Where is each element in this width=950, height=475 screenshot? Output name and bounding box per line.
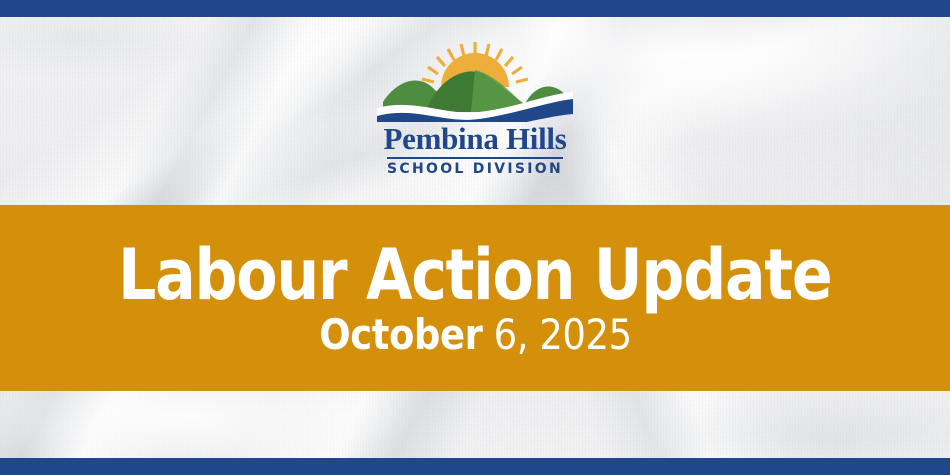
labour-action-update-banner: Pembina Hills SCHOOL DIVISION Labour Act… [0, 0, 950, 475]
date-day-year: 6, 2025 [482, 310, 631, 359]
date-month: October [319, 310, 482, 359]
logo-mark-graphic [375, 40, 575, 122]
logo-subtext: SCHOOL DIVISION [375, 162, 575, 176]
logo-wordmark: Pembina Hills [375, 123, 575, 154]
page-subtitle-date: October 6, 2025 [319, 314, 631, 356]
navy-rule-top [0, 0, 950, 17]
gold-headline-band: Labour Action Update October 6, 2025 [0, 205, 950, 391]
logo-divider-rule [387, 157, 563, 159]
page-title: Labour Action Update [118, 240, 831, 310]
pembina-hills-logo: Pembina Hills SCHOOL DIVISION [375, 40, 575, 176]
navy-rule-bottom [0, 458, 950, 475]
